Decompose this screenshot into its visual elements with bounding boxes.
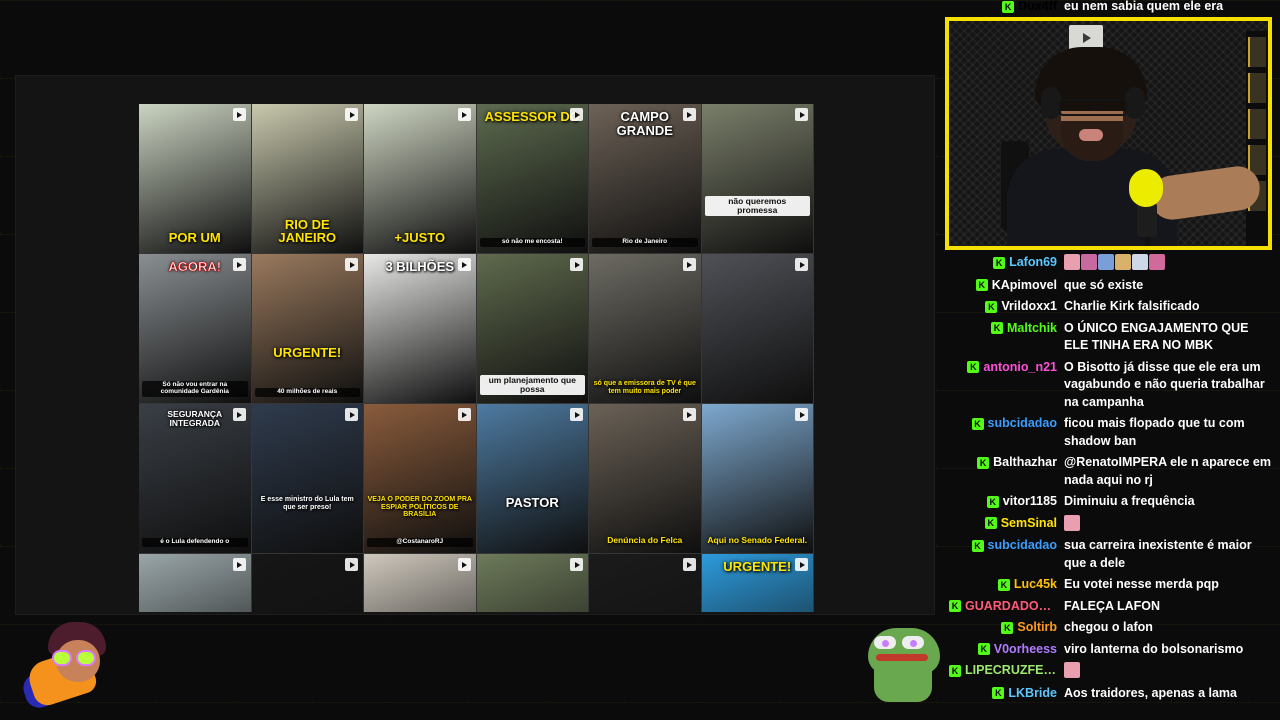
- screen-share-stage: POR UMRIO DE JANEIRO+JUSTOASSESSOR DOsó …: [15, 75, 935, 615]
- video-thumbnail[interactable]: SEGURANÇA INTEGRADAé o Lula defendendo o: [139, 404, 252, 554]
- pepe-head: [868, 628, 940, 674]
- video-thumbnail[interactable]: Aqui no Senado Federal.: [702, 404, 815, 554]
- chat-message-text: Diminuiu a frequência: [1057, 493, 1274, 511]
- play-icon[interactable]: [458, 258, 471, 271]
- play-icon[interactable]: [683, 108, 696, 121]
- video-caption: não queremos promessa: [705, 196, 811, 216]
- pepe-eye-left: [874, 636, 896, 649]
- video-thumbnail[interactable]: [702, 254, 815, 404]
- chat-username[interactable]: Dux4ff: [1018, 0, 1057, 16]
- emote-eye-left: [52, 650, 72, 666]
- cool-kid-emote: [22, 620, 114, 712]
- chat-message-meta: KSoltirb: [949, 619, 1057, 637]
- chat-message-text: O ÚNICO ENGAJAMENTO QUE ELE TINHA ERA NO…: [1057, 320, 1274, 355]
- chat-message: Kvitor1185Diminuiu a frequência: [945, 491, 1280, 513]
- kick-badge-icon: K: [976, 279, 988, 291]
- video-caption: um planejamento que possa: [480, 375, 586, 395]
- play-icon[interactable]: [570, 408, 583, 421]
- chat-message-meta: Ksubcidadao: [949, 415, 1057, 433]
- chat-message-meta: KV0orheess: [949, 641, 1057, 659]
- kick-badge-icon: K: [949, 600, 961, 612]
- video-caption: POR UM: [142, 231, 248, 245]
- chat-message-text: Charlie Kirk falsificado: [1057, 298, 1274, 316]
- kick-badge-icon: K: [993, 257, 1005, 269]
- video-thumbnail[interactable]: [364, 554, 477, 612]
- chat-message: Ksubcidadaosua carreira inexistente é ma…: [945, 535, 1280, 574]
- kick-badge-icon: K: [967, 361, 979, 373]
- video-caption: 3 BILHÕES: [367, 260, 473, 274]
- kick-badge-icon: K: [998, 579, 1010, 591]
- kick-badge-icon: K: [978, 643, 990, 655]
- video-thumbnail[interactable]: URGENTE!: [702, 554, 815, 612]
- chat-message-meta: Kantonio_n21: [949, 359, 1057, 377]
- chat-message-text: FALEÇA LAFON: [1057, 598, 1274, 616]
- emote-eye-right: [76, 650, 96, 666]
- kick-badge-icon: K: [1001, 622, 1013, 634]
- chat-message-meta: KBalthazhar: [949, 454, 1057, 472]
- kick-badge-icon: K: [972, 418, 984, 430]
- chat-message-text: viro lanterna do bolsonarismo: [1057, 641, 1274, 659]
- video-thumbnail[interactable]: [589, 554, 702, 612]
- headphone-left-icon: [1041, 87, 1061, 119]
- kick-badge-icon: K: [992, 687, 1004, 699]
- pepe-frog-emote: [860, 622, 950, 712]
- chat-message-meta: Kvitor1185: [949, 493, 1057, 511]
- video-caption-secondary: só não me encosta!: [480, 238, 586, 247]
- video-thumbnail[interactable]: só que a emissora de TV é que tem muito …: [589, 254, 702, 404]
- chat-message-meta: KKApimovel: [949, 277, 1057, 295]
- chat-message-cutoff: K Dux4ff eu nem sabia quem ele era: [945, 0, 1280, 17]
- video-thumbnail-image: [252, 254, 364, 403]
- video-caption: AGORA!: [142, 260, 248, 274]
- video-thumbnail-image: [702, 254, 814, 403]
- video-thumbnail[interactable]: RIO DE JANEIRO: [252, 104, 365, 254]
- chat-username[interactable]: Vrildoxx1: [1001, 298, 1057, 316]
- play-icon[interactable]: [795, 108, 808, 121]
- video-caption: Denúncia do Felca: [592, 536, 698, 545]
- chat-message: KMaltchikO ÚNICO ENGAJAMENTO QUE ELE TIN…: [945, 318, 1280, 357]
- microphone-icon: [1129, 169, 1163, 207]
- headphone-right-icon: [1125, 87, 1145, 119]
- video-thumbnail-image: [364, 254, 476, 403]
- video-thumbnail[interactable]: +JUSTO: [364, 104, 477, 254]
- play-icon[interactable]: [345, 408, 358, 421]
- chat-emote: [1064, 515, 1080, 531]
- chat-message-meta: KLIPECRUZFER...: [949, 662, 1057, 680]
- chat-message-meta: KLafon69: [949, 254, 1057, 272]
- chat-message-meta: KVrildoxx1: [949, 298, 1057, 316]
- video-caption-secondary: @CostanaroRJ: [367, 538, 473, 547]
- video-thumbnail-image: [252, 404, 364, 553]
- video-thumbnail-image: [364, 404, 476, 553]
- video-caption-secondary: Só não vou entrar na comunidade Gardênia: [142, 381, 248, 397]
- kick-badge-icon: K: [991, 322, 1003, 334]
- video-thumbnail[interactable]: [477, 554, 590, 612]
- chat-message: Ksubcidadaoficou mais flopado que tu com…: [945, 413, 1280, 452]
- video-thumbnail[interactable]: AGORA!Só não vou entrar na comunidade Ga…: [139, 254, 252, 404]
- video-caption: VEJA O PODER DO ZOOM PRA ESPIAR POLÍTICO…: [367, 496, 473, 518]
- video-caption: RIO DE JANEIRO: [255, 218, 361, 245]
- video-caption: URGENTE!: [255, 346, 361, 360]
- chat-message-text: eu nem sabia quem ele era: [1057, 0, 1274, 16]
- video-caption: só que a emissora de TV é que tem muito …: [592, 380, 698, 395]
- chat-message-meta: K Dux4ff: [949, 0, 1057, 16]
- kick-badge-icon: K: [987, 496, 999, 508]
- chat-message: KLIPECRUZFER...: [945, 660, 1280, 683]
- streamer-mouth: [1079, 129, 1103, 141]
- eyeglasses-icon: [1059, 99, 1127, 116]
- video-thumbnail[interactable]: POR UM: [139, 104, 252, 254]
- video-grid[interactable]: POR UMRIO DE JANEIRO+JUSTOASSESSOR DOsó …: [139, 104, 814, 612]
- video-caption: CAMPO GRANDE: [592, 110, 698, 137]
- chat-message-text: [1057, 662, 1274, 681]
- video-thumbnail[interactable]: CAMPO GRANDERio de Janeiro: [589, 104, 702, 254]
- video-thumbnail[interactable]: 3 BILHÕES: [364, 254, 477, 404]
- video-caption: Aqui no Senado Federal.: [705, 536, 811, 545]
- chat-message-text: Eu votei nesse merda pqp: [1057, 576, 1274, 594]
- chat-message: KVrildoxx1Charlie Kirk falsificado: [945, 296, 1280, 318]
- video-caption-secondary: Rio de Janeiro: [592, 238, 698, 247]
- chat-username[interactable]: GUARDADOC...: [965, 598, 1057, 616]
- chat-message-text: [1057, 254, 1274, 273]
- video-thumbnail[interactable]: [252, 554, 365, 612]
- chat-message-meta: KLKBride: [949, 685, 1057, 703]
- stream-page: POR UMRIO DE JANEIRO+JUSTOASSESSOR DOsó …: [0, 0, 1280, 720]
- chat-username[interactable]: antonio_n21: [983, 359, 1057, 377]
- chat-username[interactable]: KApimovel: [992, 277, 1057, 295]
- kick-badge-icon: K: [977, 457, 989, 469]
- video-thumbnail[interactable]: um planejamento que possa: [477, 254, 590, 404]
- chat-message: KLuc45kEu votei nesse merda pqp: [945, 574, 1280, 596]
- video-thumbnail[interactable]: URGENTE!40 milhões de reais: [252, 254, 365, 404]
- chat-username[interactable]: Soltirb: [1017, 619, 1057, 637]
- play-icon[interactable]: [570, 258, 583, 271]
- chat-message: KLafon69: [945, 252, 1280, 275]
- chat-message: KBalthazhar@RenatoIMPERA ele n aparece e…: [945, 452, 1280, 491]
- chat-username[interactable]: subcidadao: [988, 537, 1057, 555]
- chat-username[interactable]: SemSinal: [1001, 515, 1057, 533]
- play-icon[interactable]: [345, 258, 358, 271]
- play-icon[interactable]: [683, 408, 696, 421]
- chat-message: K Dux4ff eu nem sabia quem ele era: [945, 0, 1280, 17]
- video-thumbnail-image: [589, 404, 701, 553]
- video-thumbnail[interactable]: não queremos promessa: [702, 104, 815, 254]
- video-caption: PASTOR: [480, 496, 586, 510]
- right-column: K Dux4ff eu nem sabia quem ele era KKApi…: [945, 0, 1280, 720]
- chat-username[interactable]: vitor1185: [1003, 493, 1057, 511]
- play-icon[interactable]: [795, 258, 808, 271]
- chat-message-meta: KSemSinal: [949, 515, 1057, 533]
- chat-emote: [1081, 254, 1097, 270]
- chat-message-text: ficou mais flopado que tu com shadow ban: [1057, 415, 1274, 450]
- chat-message: KV0orheessviro lanterna do bolsonarismo: [945, 639, 1280, 661]
- kick-badge-icon: K: [1002, 1, 1014, 13]
- chat-message-text: O Bisotto já disse que ele era um vagabu…: [1057, 359, 1274, 412]
- chat-emote: [1115, 254, 1131, 270]
- chat-message-meta: KGUARDADOC...: [949, 598, 1057, 616]
- chat-message: KGUARDADOC...FALEÇA LAFON: [945, 596, 1280, 618]
- video-thumbnail[interactable]: VEJA O PODER DO ZOOM PRA ESPIAR POLÍTICO…: [364, 404, 477, 554]
- pepe-eye-right: [902, 636, 924, 649]
- play-icon[interactable]: [458, 558, 471, 571]
- play-icon[interactable]: [458, 408, 471, 421]
- video-caption-secondary: 40 milhões de reais: [255, 388, 361, 397]
- play-icon[interactable]: [233, 558, 246, 571]
- chat-username[interactable]: LIPECRUZFER...: [965, 662, 1057, 680]
- play-icon[interactable]: [233, 108, 246, 121]
- chat-username[interactable]: LKBride: [1008, 685, 1057, 703]
- chat-username[interactable]: Lafon69: [1009, 254, 1057, 272]
- play-icon[interactable]: [570, 108, 583, 121]
- video-thumbnail-image: [477, 404, 589, 553]
- chat-message: KKApimovelque só existe: [945, 275, 1280, 297]
- mic-body: [1137, 203, 1157, 237]
- play-icon[interactable]: [683, 558, 696, 571]
- play-icon[interactable]: [345, 108, 358, 121]
- play-icon[interactable]: [233, 258, 246, 271]
- chat-message-meta: KLuc45k: [949, 576, 1057, 594]
- chat-username[interactable]: Luc45k: [1014, 576, 1057, 594]
- video-thumbnail[interactable]: PASTOR: [477, 404, 590, 554]
- chat-emote: [1064, 662, 1080, 678]
- play-icon[interactable]: [570, 558, 583, 571]
- chat-username[interactable]: Balthazhar: [993, 454, 1057, 472]
- chat-message-text: [1057, 515, 1274, 534]
- video-thumbnail[interactable]: [139, 554, 252, 612]
- video-thumbnail-image: [477, 104, 589, 253]
- video-caption-secondary: é o Lula defendendo o: [142, 538, 248, 547]
- chat-emote: [1064, 254, 1080, 270]
- video-thumbnail-image: [702, 104, 814, 253]
- chat-emote: [1132, 254, 1148, 270]
- video-thumbnail[interactable]: Denúncia do Felca: [589, 404, 702, 554]
- kick-badge-icon: K: [949, 665, 961, 677]
- play-icon[interactable]: [458, 108, 471, 121]
- chat-emote: [1149, 254, 1165, 270]
- play-icon[interactable]: [683, 258, 696, 271]
- video-caption: SEGURANÇA INTEGRADA: [142, 410, 248, 428]
- webcam-feed: [949, 21, 1268, 246]
- video-caption: +JUSTO: [367, 231, 473, 245]
- video-thumbnail[interactable]: ASSESSOR DOsó não me encosta!: [477, 104, 590, 254]
- chat-message-meta: Ksubcidadao: [949, 537, 1057, 555]
- chat-message-text: sua carreira inexistente é maior que a d…: [1057, 537, 1274, 572]
- chat-message-list[interactable]: KKApimovelapenas um trouxaKGerovisk_456q…: [945, 209, 1280, 704]
- play-icon[interactable]: [233, 408, 246, 421]
- play-icon[interactable]: [795, 408, 808, 421]
- chat-username[interactable]: V0orheess: [994, 641, 1057, 659]
- chat-username[interactable]: subcidadao: [988, 415, 1057, 433]
- video-caption: E esse ministro do Lula tem que ser pres…: [255, 496, 361, 511]
- bookshelf: [1246, 31, 1268, 246]
- play-icon[interactable]: [345, 558, 358, 571]
- video-thumbnail[interactable]: E esse ministro do Lula tem que ser pres…: [252, 404, 365, 554]
- chat-message-text: @RenatoIMPERA ele n aparece em nada aqui…: [1057, 454, 1274, 489]
- chat-message: KSoltirbchegou o lafon: [945, 617, 1280, 639]
- kick-badge-icon: K: [972, 540, 984, 552]
- pepe-mouth: [876, 654, 928, 661]
- kick-badge-icon: K: [985, 301, 997, 313]
- chat-message-meta: KMaltchik: [949, 320, 1057, 338]
- webcam-frame[interactable]: [945, 17, 1272, 250]
- chat-username[interactable]: Maltchik: [1007, 320, 1057, 338]
- chat-message: Kantonio_n21O Bisotto já disse que ele e…: [945, 357, 1280, 414]
- kick-badge-icon: K: [985, 517, 997, 529]
- play-icon[interactable]: [795, 558, 808, 571]
- chat-message-text: que só existe: [1057, 277, 1274, 295]
- chat-message-text: chegou o lafon: [1057, 619, 1274, 637]
- chat-message-text: Aos traidores, apenas a lama: [1057, 685, 1274, 703]
- chat-message: KLKBrideAos traidores, apenas a lama: [945, 683, 1280, 705]
- video-thumbnail-image: [702, 404, 814, 553]
- chat-emote: [1098, 254, 1114, 270]
- chat-message: KSemSinal: [945, 513, 1280, 536]
